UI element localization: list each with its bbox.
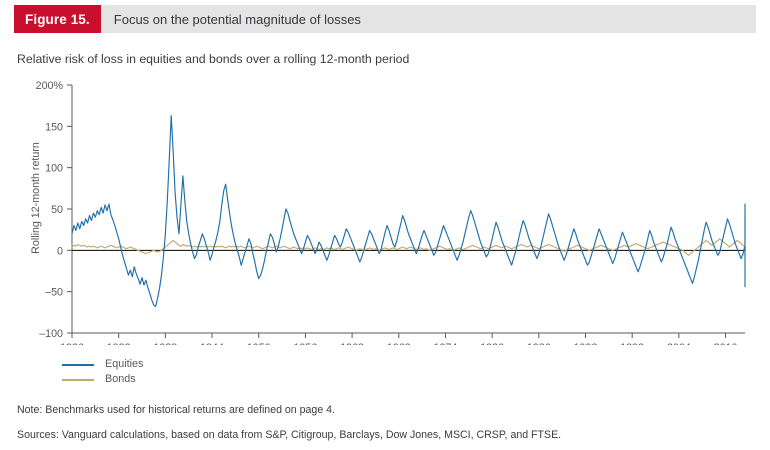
figure-note: Note: Benchmarks used for historical ret… [17, 404, 335, 416]
y-tick-label: –100 [39, 328, 63, 340]
legend-swatch-equities [62, 364, 94, 366]
figure-title: Focus on the potential magnitude of loss… [101, 5, 361, 33]
x-tick-label: 1962 [340, 342, 364, 345]
x-tick-label: 1974 [434, 342, 458, 345]
y-tick-label: 0 [57, 245, 63, 257]
legend-item-bonds[interactable]: Bonds [62, 372, 143, 387]
x-tick-label: 1926 [60, 342, 84, 345]
y-tick-label: 50 [51, 204, 63, 216]
x-tick-label: 1992 [574, 342, 598, 345]
y-tick-label: 200% [36, 80, 64, 92]
x-tick-label: 1944 [200, 342, 224, 345]
figure-container: Figure 15. Focus on the potential magnit… [0, 0, 770, 450]
y-axis-group: –100–50050100150200% [36, 80, 72, 340]
x-tick-label: 1932 [107, 342, 131, 345]
figure-sources: Sources: Vanguard calculations, based on… [17, 429, 561, 441]
y-tick-label: –50 [45, 287, 63, 299]
legend-swatch-bonds [62, 379, 94, 381]
series-group [72, 116, 745, 307]
x-tick-label: 1980 [480, 342, 504, 345]
legend-label-bonds: Bonds [105, 372, 136, 387]
chart-legend: Equities Bonds [62, 357, 143, 387]
legend-item-equities[interactable]: Equities [62, 357, 143, 372]
legend-label-equities: Equities [105, 357, 143, 372]
chart-subtitle: Relative risk of loss in equities and bo… [17, 52, 409, 66]
x-tick-label: 1986 [527, 342, 551, 345]
x-tick-label: 1950 [247, 342, 271, 345]
figure-header-bar: Figure 15. Focus on the potential magnit… [14, 5, 756, 33]
x-axis-group: 1926193219381944195019561962196819741980… [60, 333, 745, 345]
chart-area: Rolling 12-month return –100–50050100150… [0, 75, 770, 345]
y-tick-label: 150 [45, 121, 63, 133]
figure-number-badge: Figure 15. [14, 5, 101, 33]
x-tick-label: 1998 [620, 342, 644, 345]
x-tick-label: 2004 [667, 342, 691, 345]
x-tick-label: 1956 [294, 342, 318, 345]
series-line-equities [72, 116, 745, 307]
y-tick-label: 100 [45, 163, 63, 175]
line-chart-svg: –100–50050100150200% 1926193219381944195… [0, 75, 770, 345]
x-tick-label: 2010 [714, 342, 738, 345]
series-line-bonds [72, 217, 745, 255]
x-tick-label: 1968 [387, 342, 411, 345]
x-tick-label: 1938 [153, 342, 177, 345]
